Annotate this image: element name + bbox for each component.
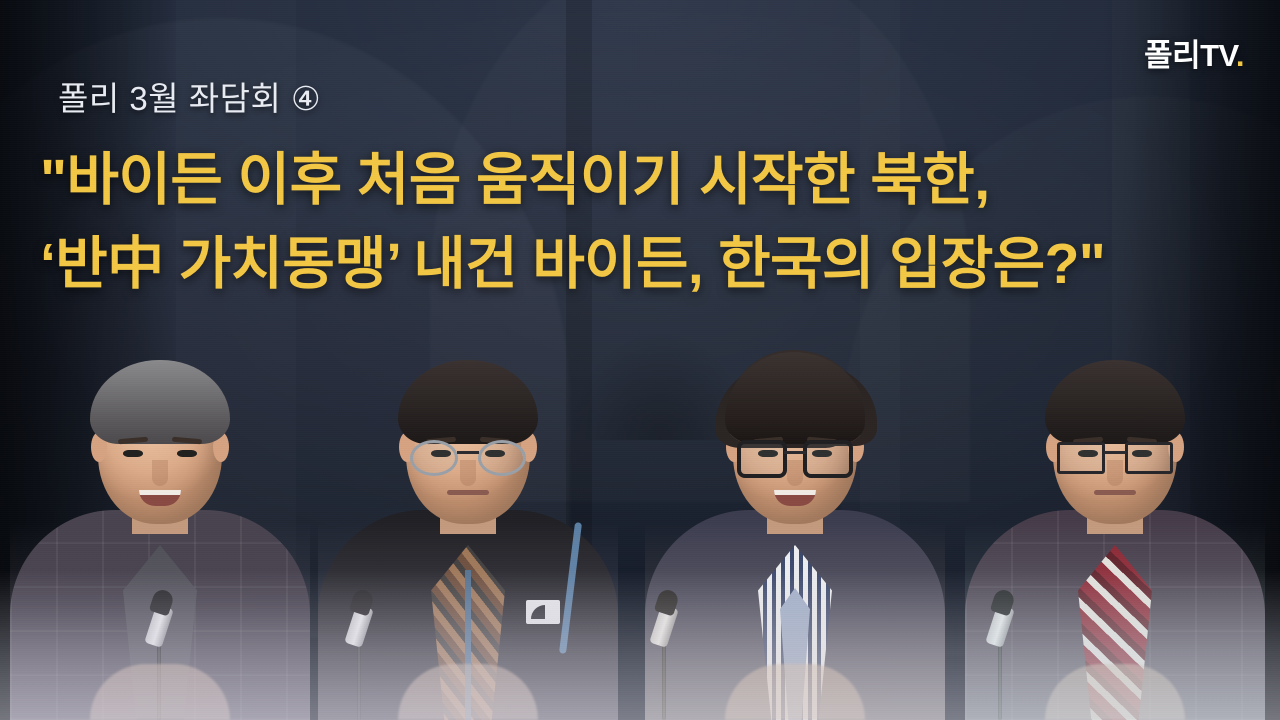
mouth (139, 490, 181, 506)
episode-subtitle: 폴리 3월 좌담회 ④ (58, 72, 321, 120)
nose (460, 460, 476, 486)
mouth (1094, 490, 1136, 495)
channel-logo: 폴리TV. (1144, 30, 1244, 75)
channel-logo-dot: . (1236, 38, 1244, 73)
headline-line-2: ‘반中 가치동맹’ 내건 바이든, 한국의 입장은?" (40, 222, 1105, 306)
channel-logo-text: 폴리TV (1144, 38, 1236, 73)
fleece-trim (559, 522, 582, 654)
nose (787, 460, 803, 486)
nose (1107, 460, 1123, 486)
panelist-photo-4 (965, 360, 1265, 720)
panelist-1-head (98, 368, 222, 524)
page-title: "바이든 이후 처음 움직이기 시작한 북한, ‘반中 가치동맹’ 내건 바이든… (40, 138, 1105, 307)
eye (177, 450, 197, 457)
panelist-3-head (733, 368, 857, 524)
hair (1045, 360, 1185, 444)
hair (398, 360, 538, 444)
hair (90, 360, 230, 444)
panelist-photo-3 (645, 360, 945, 720)
panelist-photo-1 (10, 360, 310, 720)
panelist-4-head (1053, 368, 1177, 524)
jacket-logo-patch (526, 600, 560, 624)
hair (725, 352, 865, 444)
mouth (447, 490, 489, 495)
panelist-2-head (406, 368, 530, 524)
mouth (774, 490, 816, 506)
eye (123, 450, 143, 457)
headline-line-1: "바이든 이후 처음 움직이기 시작한 북한, (40, 138, 1105, 222)
panelist-row (0, 320, 1280, 720)
nose (152, 460, 168, 486)
thumbnail-canvas: 폴리 3월 좌담회 ④ "바이든 이후 처음 움직이기 시작한 북한, ‘반中 … (0, 0, 1280, 720)
panelist-photo-2 (318, 360, 618, 720)
